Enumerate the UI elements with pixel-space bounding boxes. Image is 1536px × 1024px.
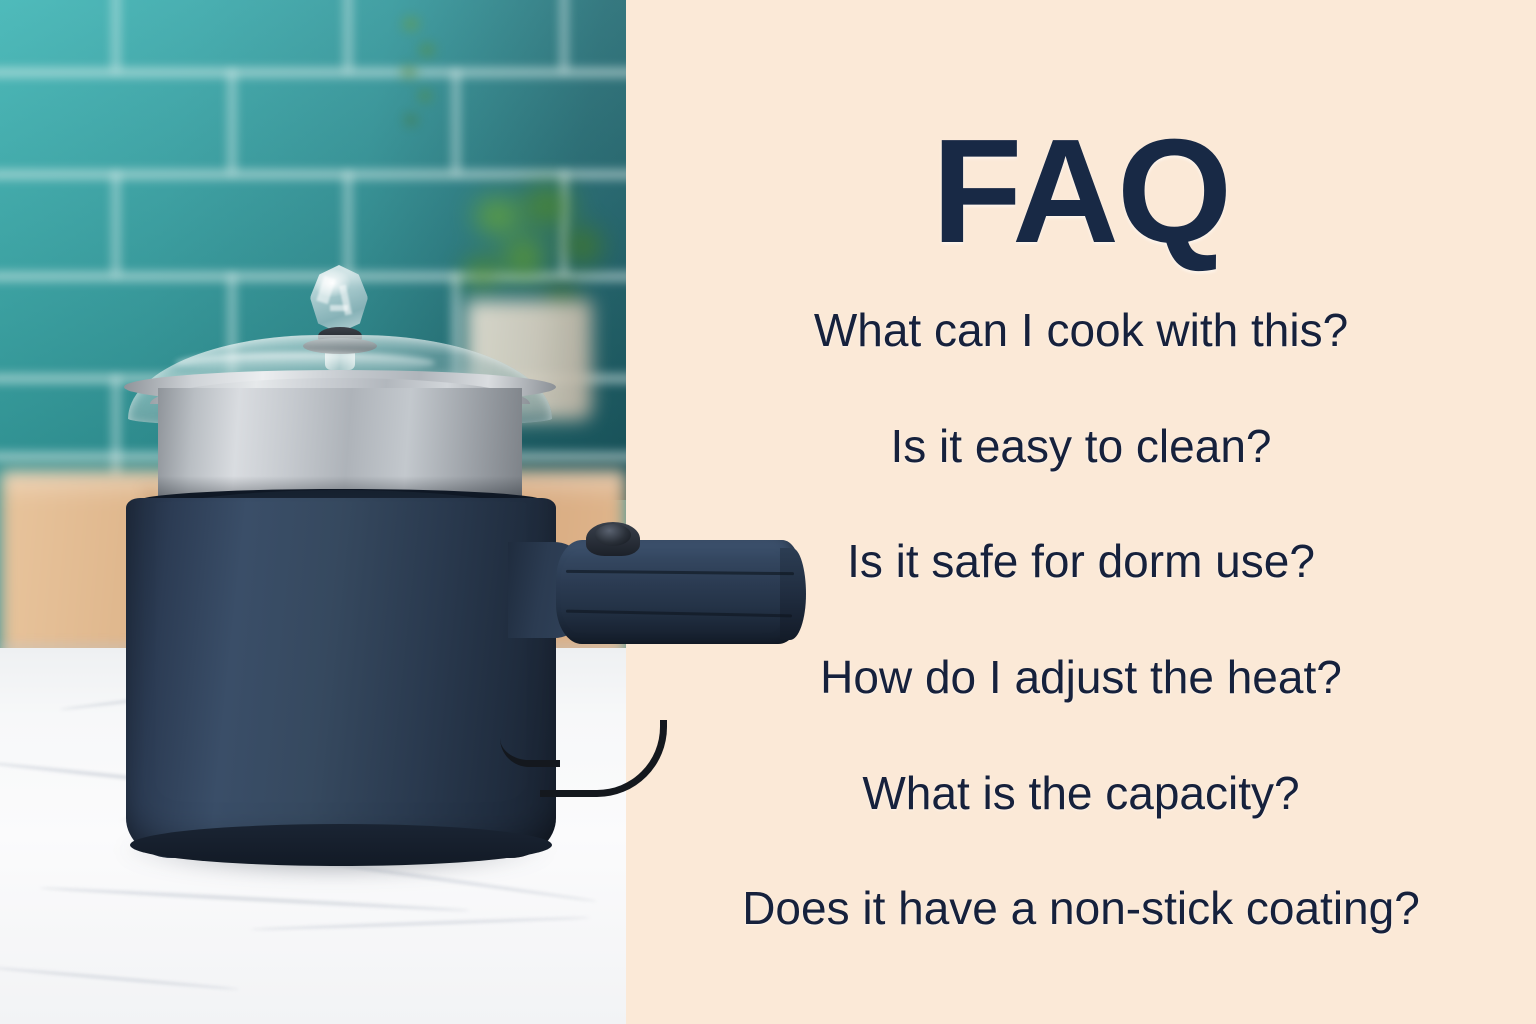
grout-line-vertical bbox=[344, 0, 352, 72]
grout-line-horizontal bbox=[0, 68, 626, 77]
faq-question[interactable]: How do I adjust the heat? bbox=[626, 653, 1536, 703]
marble-vein bbox=[0, 966, 239, 991]
faq-question-list: What can I cook with this? Is it easy to… bbox=[626, 306, 1536, 934]
grout-line-vertical bbox=[112, 0, 120, 72]
marble-vein bbox=[40, 886, 470, 912]
faq-question[interactable]: Is it easy to clean? bbox=[626, 422, 1536, 472]
faq-question[interactable]: What is the capacity? bbox=[626, 769, 1536, 819]
hanging-plant-vine bbox=[385, 10, 463, 145]
faq-product-banner: FAQ What can I cook with this? Is it eas… bbox=[0, 0, 1536, 1024]
marble-vein bbox=[250, 916, 590, 931]
faq-panel: FAQ What can I cook with this? Is it eas… bbox=[626, 0, 1536, 1024]
grout-line-vertical bbox=[112, 376, 120, 480]
navy-base-body bbox=[126, 498, 556, 858]
grout-line-vertical bbox=[112, 172, 120, 276]
faq-question[interactable]: Does it have a non-stick coating? bbox=[626, 884, 1536, 934]
grout-line-vertical bbox=[560, 0, 568, 72]
base-bottom-curve bbox=[130, 824, 552, 866]
product-photo bbox=[0, 0, 626, 1024]
grout-line-vertical bbox=[344, 172, 352, 276]
page-title: FAQ bbox=[626, 118, 1536, 266]
faq-question[interactable]: Is it safe for dorm use? bbox=[626, 537, 1536, 587]
faq-question[interactable]: What can I cook with this? bbox=[626, 306, 1536, 356]
grout-line-vertical bbox=[228, 70, 236, 174]
